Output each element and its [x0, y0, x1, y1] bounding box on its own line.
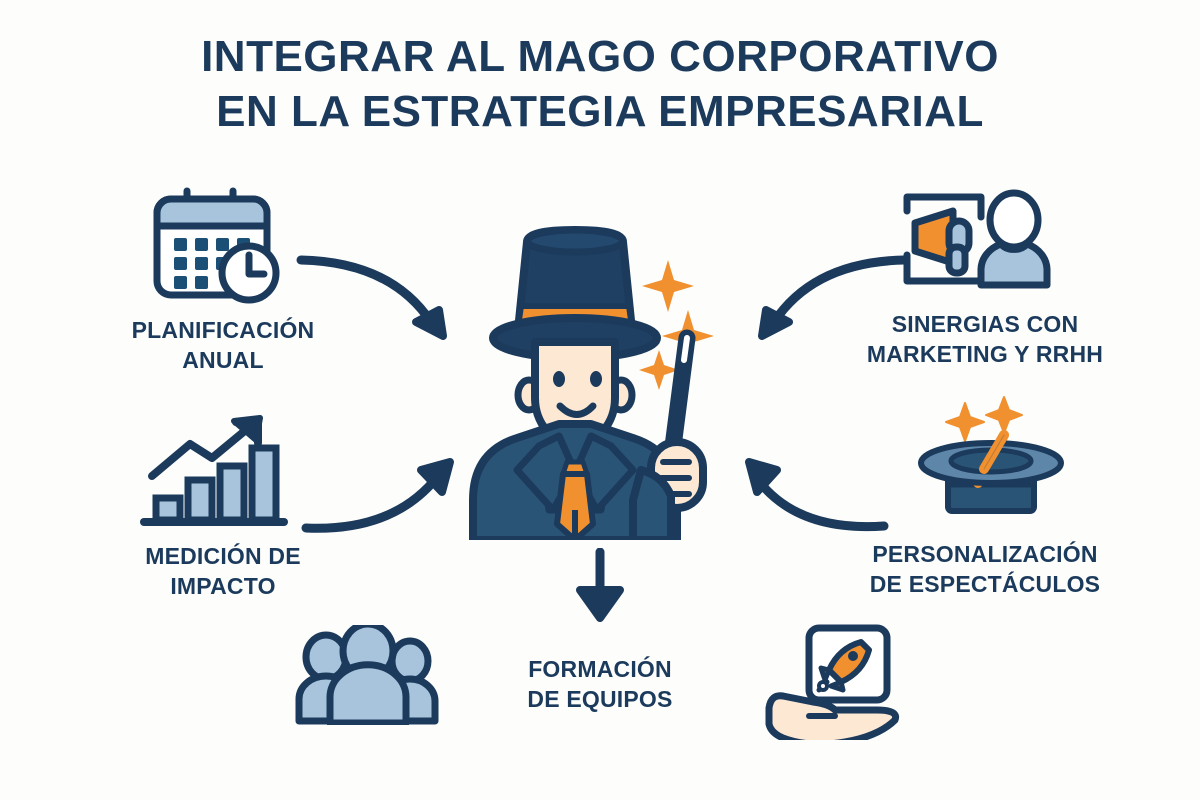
team-group-svg: [293, 625, 443, 725]
label-line-2: ANUAL: [48, 346, 398, 376]
megaphone-person-svg: [885, 185, 1070, 295]
title-line-2: EN LA ESTRATEGIA EMPRESARIAL: [0, 85, 1200, 140]
megaphone-person-icon: [885, 185, 1070, 295]
arrow-bottom-left-to-center: [300, 450, 485, 550]
label-line-2: DE ESPECTÁCULOS: [810, 570, 1160, 600]
label-line-1: MEDICIÓN DE: [48, 542, 398, 572]
label-line-1: SINERGIAS CON: [810, 310, 1160, 340]
calendar-clock-icon: [145, 185, 290, 305]
calendar-clock-svg: [145, 185, 290, 305]
eye-right: [590, 371, 602, 387]
arrow-bottom-left-svg: [300, 450, 485, 550]
magic-hat-svg: [910, 395, 1075, 515]
label-line-2: MARKETING Y RRHH: [810, 340, 1160, 370]
arrow-center-to-bottom: [558, 548, 643, 628]
growth-chart-svg: [138, 410, 288, 530]
eye-left: [553, 371, 565, 387]
infographic-canvas: INTEGRAR AL MAGO CORPORATIVO EN LA ESTRA…: [0, 0, 1200, 800]
label-line-1: PERSONALIZACIÓN: [810, 540, 1160, 570]
arrow-down-svg: [558, 548, 643, 628]
label-line-1: FORMACIÓN: [430, 655, 770, 685]
title-line-1: INTEGRAR AL MAGO CORPORATIVO: [0, 30, 1200, 85]
node-label-personalizacion-espectaculos: PERSONALIZACIÓN DE ESPECTÁCULOS: [810, 540, 1160, 600]
arrow-bottom-right-svg: [725, 450, 890, 545]
growth-chart-icon: [138, 410, 288, 530]
node-label-formacion-de-equipos: FORMACIÓN DE EQUIPOS: [430, 655, 770, 715]
label-line-2: DE EQUIPOS: [430, 685, 770, 715]
node-label-planificacion-anual: PLANIFICACIÓN ANUAL: [48, 316, 398, 376]
page-title: INTEGRAR AL MAGO CORPORATIVO EN LA ESTRA…: [0, 30, 1200, 139]
node-label-sinergias-marketing-rrhh: SINERGIAS CON MARKETING Y RRHH: [810, 310, 1160, 370]
sleeve-right: [633, 470, 671, 540]
label-line-1: PLANIFICACIÓN: [48, 316, 398, 346]
hand-rocket-icon: [765, 620, 930, 740]
node-label-medicion-de-impacto: MEDICIÓN DE IMPACTO: [48, 542, 398, 602]
arrow-bottom-right-to-center: [725, 450, 890, 545]
team-group-icon: [293, 625, 443, 725]
magic-hat-icon: [910, 395, 1075, 515]
corporate-magician-svg: [455, 210, 745, 540]
hand-rocket-svg: [765, 620, 930, 740]
label-line-2: IMPACTO: [48, 572, 398, 602]
corporate-magician-figure: [455, 210, 745, 540]
